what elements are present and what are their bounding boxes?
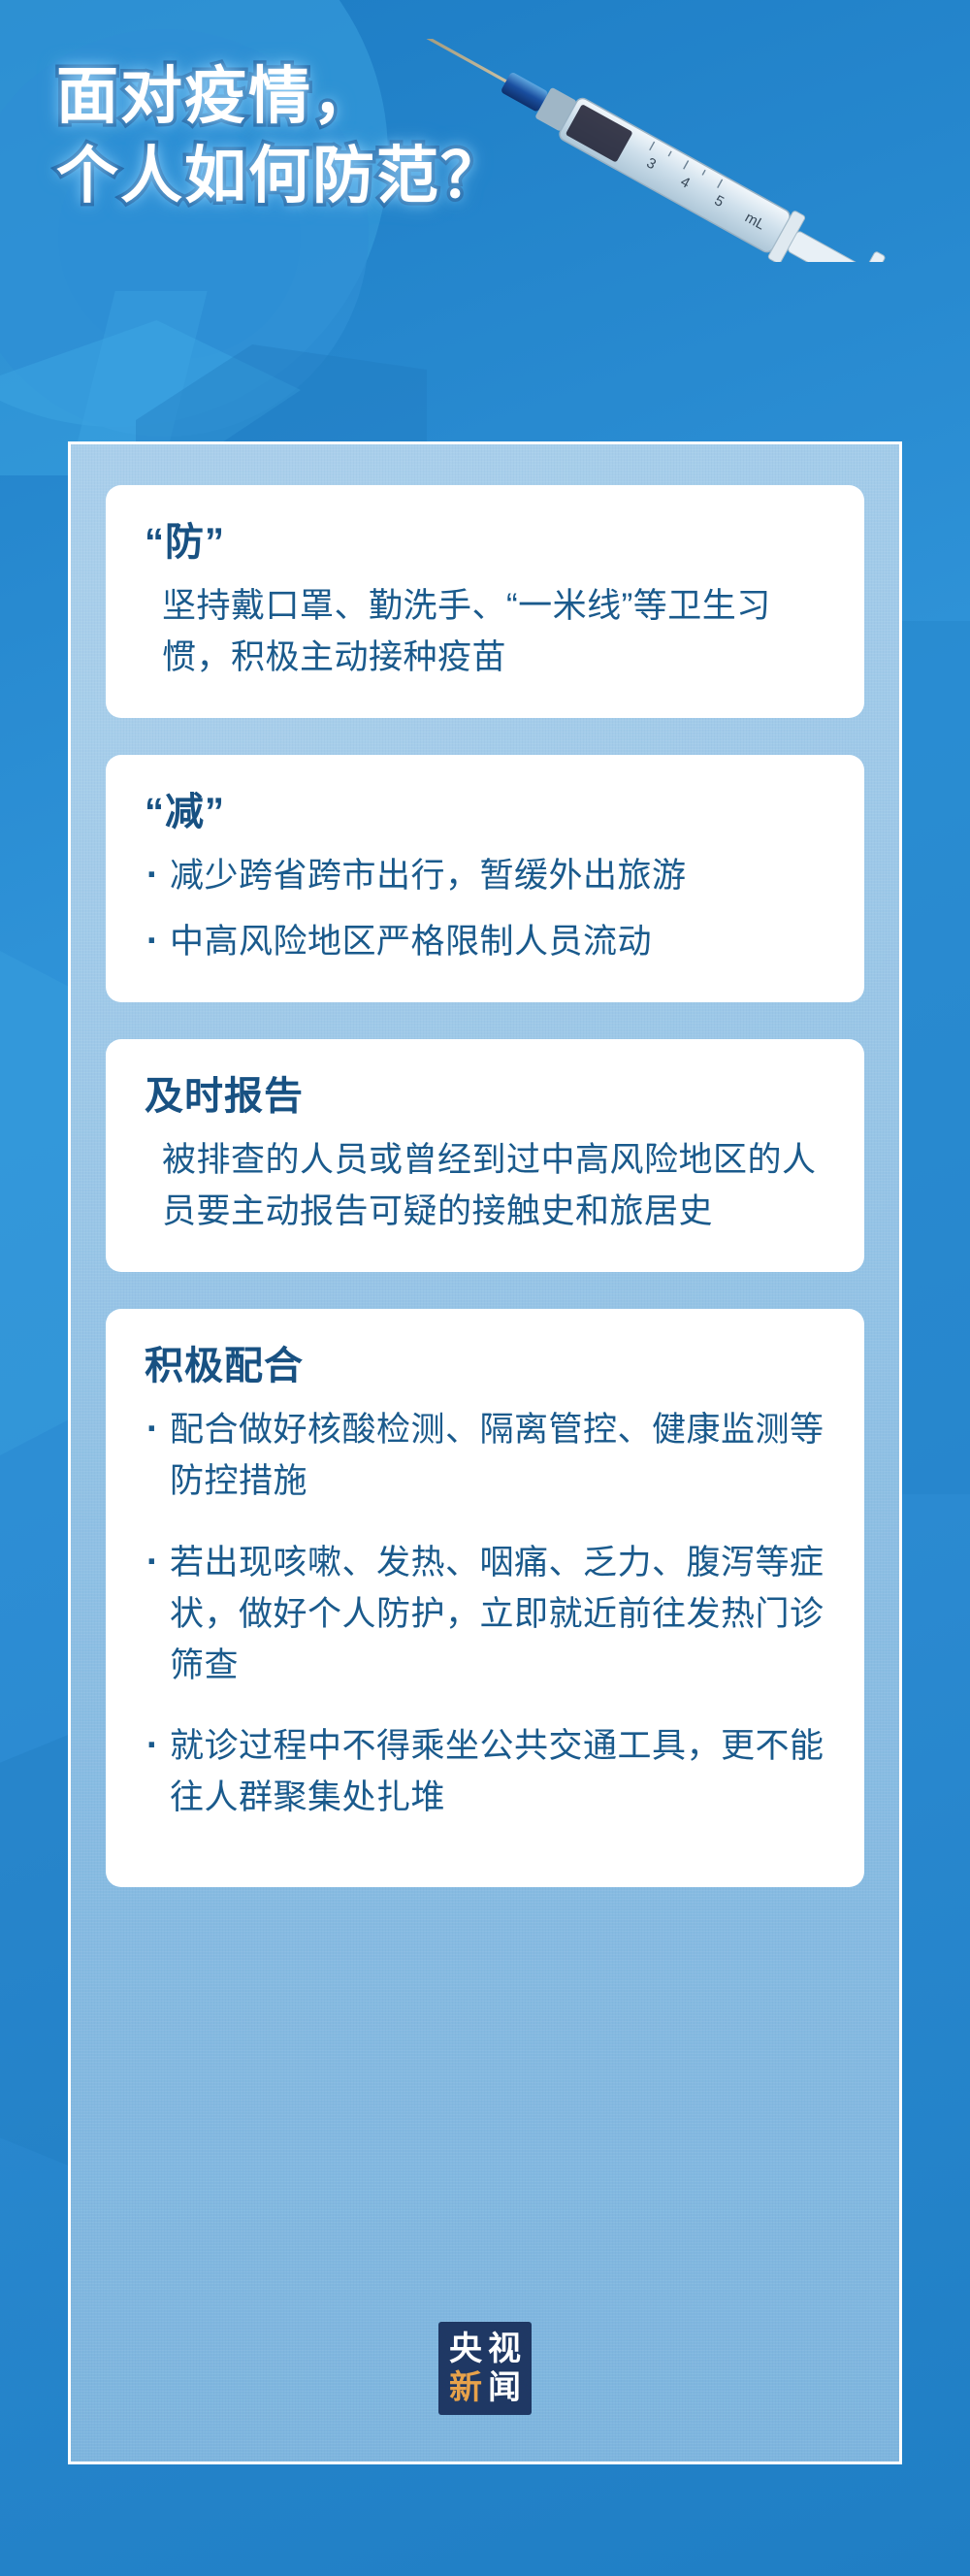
hero-title-line-2: 个人如何防范？ bbox=[56, 140, 504, 213]
logo-area: 央 视 新 闻 bbox=[71, 2322, 899, 2415]
card-jian-bullet-list: 减少跨省跨市出行，暂缓外出旅游 中高风险地区严格限制人员流动 bbox=[145, 850, 825, 966]
card-fang: 防 坚持戴口罩、勤洗手、“一米线”等卫生习惯，积极主动接种疫苗 bbox=[106, 485, 864, 718]
card-jijipeihe-title: 积极配合 bbox=[145, 1342, 825, 1390]
card-fang-paragraph: 坚持戴口罩、勤洗手、“一米线”等卫生习惯，积极主动接种疫苗 bbox=[145, 580, 825, 683]
card-jishibaogao-title: 及时报告 bbox=[145, 1072, 825, 1121]
list-item: 若出现咳嗽、发热、咽痛、乏力、腹泻等症状，做好个人防护，立即就近前往发热门诊筛查 bbox=[145, 1537, 825, 1692]
deco-polygon-e bbox=[902, 621, 970, 1494]
list-item: 就诊过程中不得乘坐公共交通工具，更不能往人群聚集处扎堆 bbox=[145, 1720, 825, 1823]
card-jishibaogao: 及时报告 被排查的人员或曾经到过中高风险地区的人员要主动报告可疑的接触史和旅居史 bbox=[106, 1039, 864, 1272]
card-jishibaogao-paragraph: 被排查的人员或曾经到过中高风险地区的人员要主动报告可疑的接触史和旅居史 bbox=[145, 1134, 825, 1237]
cards-container: 防 坚持戴口罩、勤洗手、“一米线”等卫生习惯，积极主动接种疫苗 减 减少跨省跨市… bbox=[71, 444, 899, 1887]
card-jijipeihe: 积极配合 配合做好核酸检测、隔离管控、健康监测等防控措施 若出现咳嗽、发热、咽痛… bbox=[106, 1309, 864, 1887]
card-jian: 减 减少跨省跨市出行，暂缓外出旅游 中高风险地区严格限制人员流动 bbox=[106, 755, 864, 1001]
card-jijipeihe-bullet-list: 配合做好核酸检测、隔离管控、健康监测等防控措施 若出现咳嗽、发热、咽痛、乏力、腹… bbox=[145, 1404, 825, 1823]
logo-char-wen: 闻 bbox=[488, 2371, 521, 2404]
cctv-news-logo: 央 视 新 闻 bbox=[438, 2322, 532, 2415]
logo-char-shi: 视 bbox=[488, 2332, 521, 2365]
list-item: 配合做好核酸检测、隔离管控、健康监测等防控措施 bbox=[145, 1404, 825, 1507]
logo-char-xin: 新 bbox=[449, 2371, 482, 2404]
logo-char-yang: 央 bbox=[449, 2332, 482, 2365]
list-item: 中高风险地区严格限制人员流动 bbox=[145, 916, 825, 967]
poster-root: 3 4 5 mL 面对疫情， 个人如何防范？ bbox=[0, 0, 970, 2576]
hero-title: 面对疫情， 个人如何防范？ bbox=[56, 60, 504, 212]
card-fang-title: 防 bbox=[145, 518, 825, 567]
card-jian-title: 减 bbox=[145, 788, 825, 836]
list-item: 减少跨省跨市出行，暂缓外出旅游 bbox=[145, 850, 825, 901]
content-panel: 防 坚持戴口罩、勤洗手、“一米线”等卫生习惯，积极主动接种疫苗 减 减少跨省跨市… bbox=[68, 441, 902, 2464]
hero-title-line-1: 面对疫情， bbox=[56, 60, 504, 134]
